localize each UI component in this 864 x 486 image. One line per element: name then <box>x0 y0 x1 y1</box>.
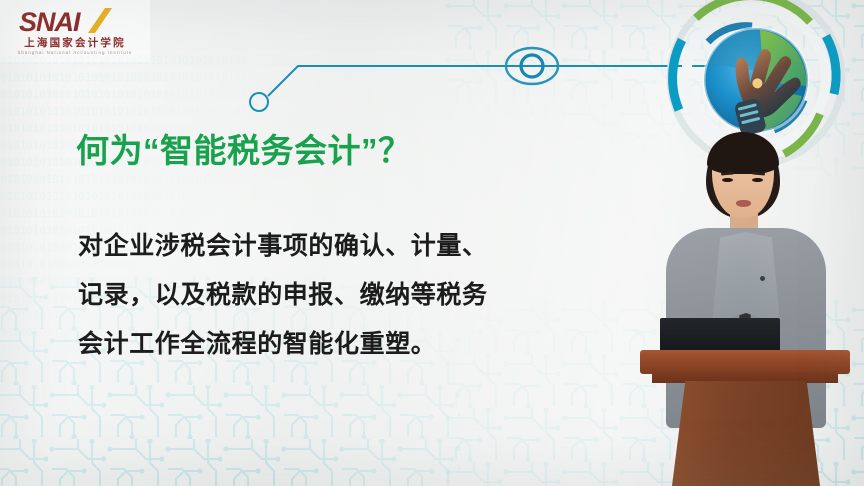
logo-english-name: Shanghai National Accounting Institute <box>17 51 132 55</box>
presentation-slide: 0101 <box>0 0 864 486</box>
slide-headline: 何为“智能税务会计”？ <box>76 131 412 171</box>
body-line-1: 对企业涉税会计事项的确认、计量、 <box>78 222 598 271</box>
logo-chinese-name: 上海国家会计学院 <box>24 38 126 49</box>
podium-body <box>672 381 820 486</box>
podium-top-surface <box>640 350 850 374</box>
presenter-lapel-microphone <box>760 276 765 281</box>
body-line-2: 记录，以及税款的申报、缴纳等税务 <box>78 271 598 320</box>
circuit-connector-line <box>240 36 710 132</box>
slide-body-text: 对企业涉税会计事项的确认、计量、 记录，以及税款的申报、缴纳等税务 会计工作全流… <box>78 222 598 368</box>
svg-text:SNAI: SNAI <box>19 7 81 37</box>
snai-logo: SNAI 上海国家会计学院 Shanghai National Accounti… <box>0 0 150 62</box>
body-line-3: 会计工作全流程的智能化重塑。 <box>78 320 598 369</box>
presenter-mouth <box>736 200 751 207</box>
presenter-hair-front <box>707 132 779 174</box>
laptop-screen <box>660 318 780 354</box>
snai-wordmark-icon: SNAI <box>19 7 131 37</box>
